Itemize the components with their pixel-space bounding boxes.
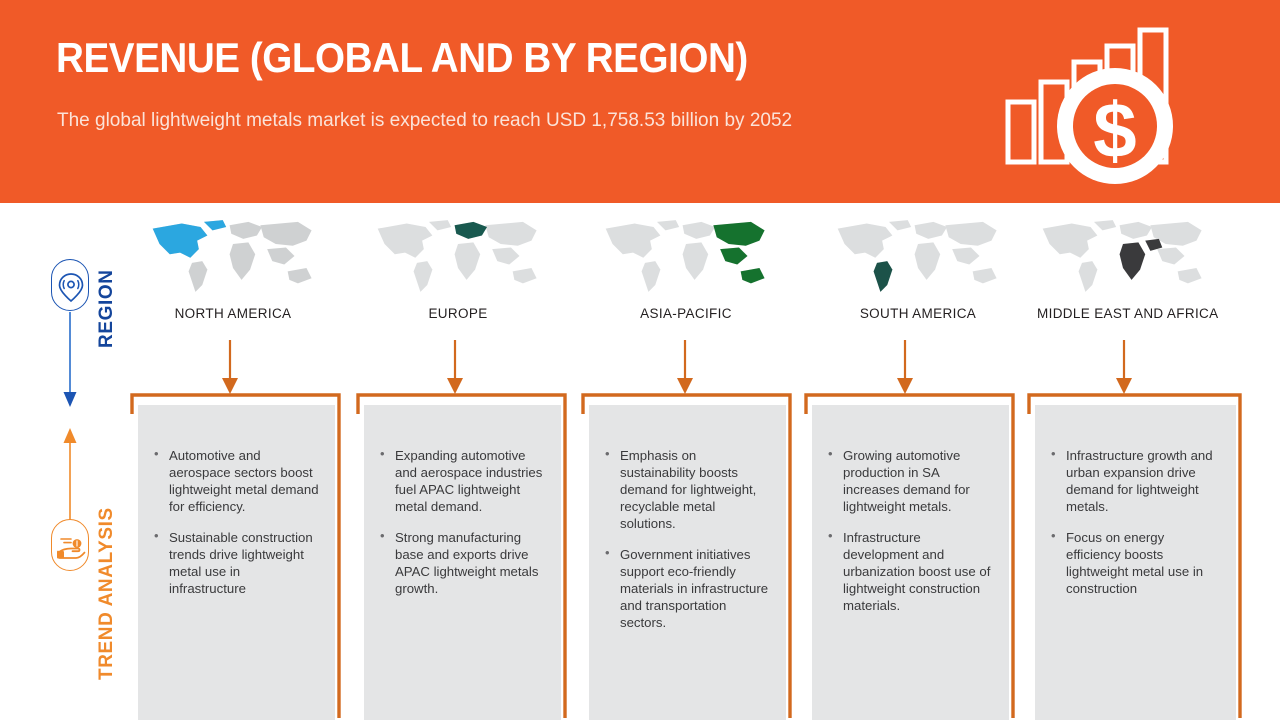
map-thumb-0 [147, 215, 319, 297]
hand-holding-coin-icon [52, 520, 90, 572]
column-down-arrow-1 [443, 340, 467, 396]
column-down-arrow-3 [893, 340, 917, 396]
bullet-item: Focus on energy efficiency boosts lightw… [1049, 529, 1220, 597]
region-column-3: SOUTH AMERICA [832, 215, 1004, 297]
region-down-arrow [56, 312, 84, 412]
page-title: REVENUE (GLOBAL AND BY REGION) [56, 36, 748, 80]
bullet-list-2: Emphasis on sustainability boosts demand… [603, 447, 770, 631]
map-thumb-1 [372, 215, 544, 297]
slide-root: REVENUE (GLOBAL AND BY REGION) The globa… [0, 0, 1280, 720]
panel-body-3: Growing automotive production in SA incr… [812, 405, 1009, 720]
page-subtitle: The global lightweight metals market is … [57, 107, 857, 135]
panel-body-2: Emphasis on sustainability boosts demand… [589, 405, 786, 720]
region-column-4: MIDDLE EAST AND AFRICA [1037, 215, 1209, 297]
map-thumb-2 [600, 215, 772, 297]
bullet-list-0: Automotive and aerospace sectors boost l… [152, 447, 319, 597]
bar-chart-dollar-coin-icon: $ [1000, 14, 1210, 194]
trend-analysis-icon-badge [51, 519, 89, 571]
region-label-3: SOUTH AMERICA [832, 306, 1004, 321]
map-highlight-south-america [874, 261, 893, 292]
map-highlight-asia-pacific [713, 222, 764, 284]
column-down-arrow-0 [218, 340, 242, 396]
column-down-arrow-2 [673, 340, 697, 396]
map-thumb-3 [832, 215, 1004, 297]
map-highlight-north-america [153, 220, 226, 258]
bullet-item: Strong manufacturing base and exports dr… [378, 529, 545, 597]
region-label-1: EUROPE [372, 306, 544, 321]
bullet-list-4: Infrastructure growth and urban expansio… [1049, 447, 1220, 597]
bullet-item: Infrastructure growth and urban expansio… [1049, 447, 1220, 515]
bullet-item: Growing automotive production in SA incr… [826, 447, 993, 515]
trend-up-arrow [56, 428, 84, 523]
bullet-list-1: Expanding automotive and aerospace indus… [378, 447, 545, 597]
header-banner: REVENUE (GLOBAL AND BY REGION) The globa… [0, 0, 1280, 203]
svg-text:$: $ [1093, 86, 1136, 174]
bullet-item: Sustainable construction trends drive li… [152, 529, 319, 597]
region-label-0: NORTH AMERICA [147, 306, 319, 321]
map-highlight-middle-east-africa [1120, 239, 1163, 280]
bullet-item: Expanding automotive and aerospace indus… [378, 447, 545, 515]
region-column-2: ASIA-PACIFIC [600, 215, 772, 297]
panel-body-0: Automotive and aerospace sectors boost l… [138, 405, 335, 720]
map-thumb-4 [1037, 215, 1209, 297]
region-label-4: MIDDLE EAST AND AFRICA [1037, 306, 1209, 321]
region-label-2: ASIA-PACIFIC [600, 306, 772, 321]
bullet-item: Automotive and aerospace sectors boost l… [152, 447, 319, 515]
location-pin-signal-icon [52, 260, 90, 312]
world-map-base [838, 220, 997, 292]
region-column-0: NORTH AMERICA [147, 215, 319, 297]
panel-body-4: Infrastructure growth and urban expansio… [1035, 405, 1236, 720]
column-down-arrow-4 [1112, 340, 1136, 396]
rail-label-trend-analysis: TREND ANALYSIS [96, 425, 118, 680]
map-highlight-europe [455, 222, 487, 239]
bullet-item: Emphasis on sustainability boosts demand… [603, 447, 770, 532]
bullet-list-3: Growing automotive production in SA incr… [826, 447, 993, 614]
bullet-item: Government initiatives support eco-frien… [603, 546, 770, 631]
region-column-1: EUROPE [372, 215, 544, 297]
rail-label-region: REGION [96, 228, 118, 348]
bullet-item: Infrastructure development and urbanizat… [826, 529, 993, 614]
region-icon-badge [51, 259, 89, 311]
panel-body-1: Expanding automotive and aerospace indus… [364, 405, 561, 720]
